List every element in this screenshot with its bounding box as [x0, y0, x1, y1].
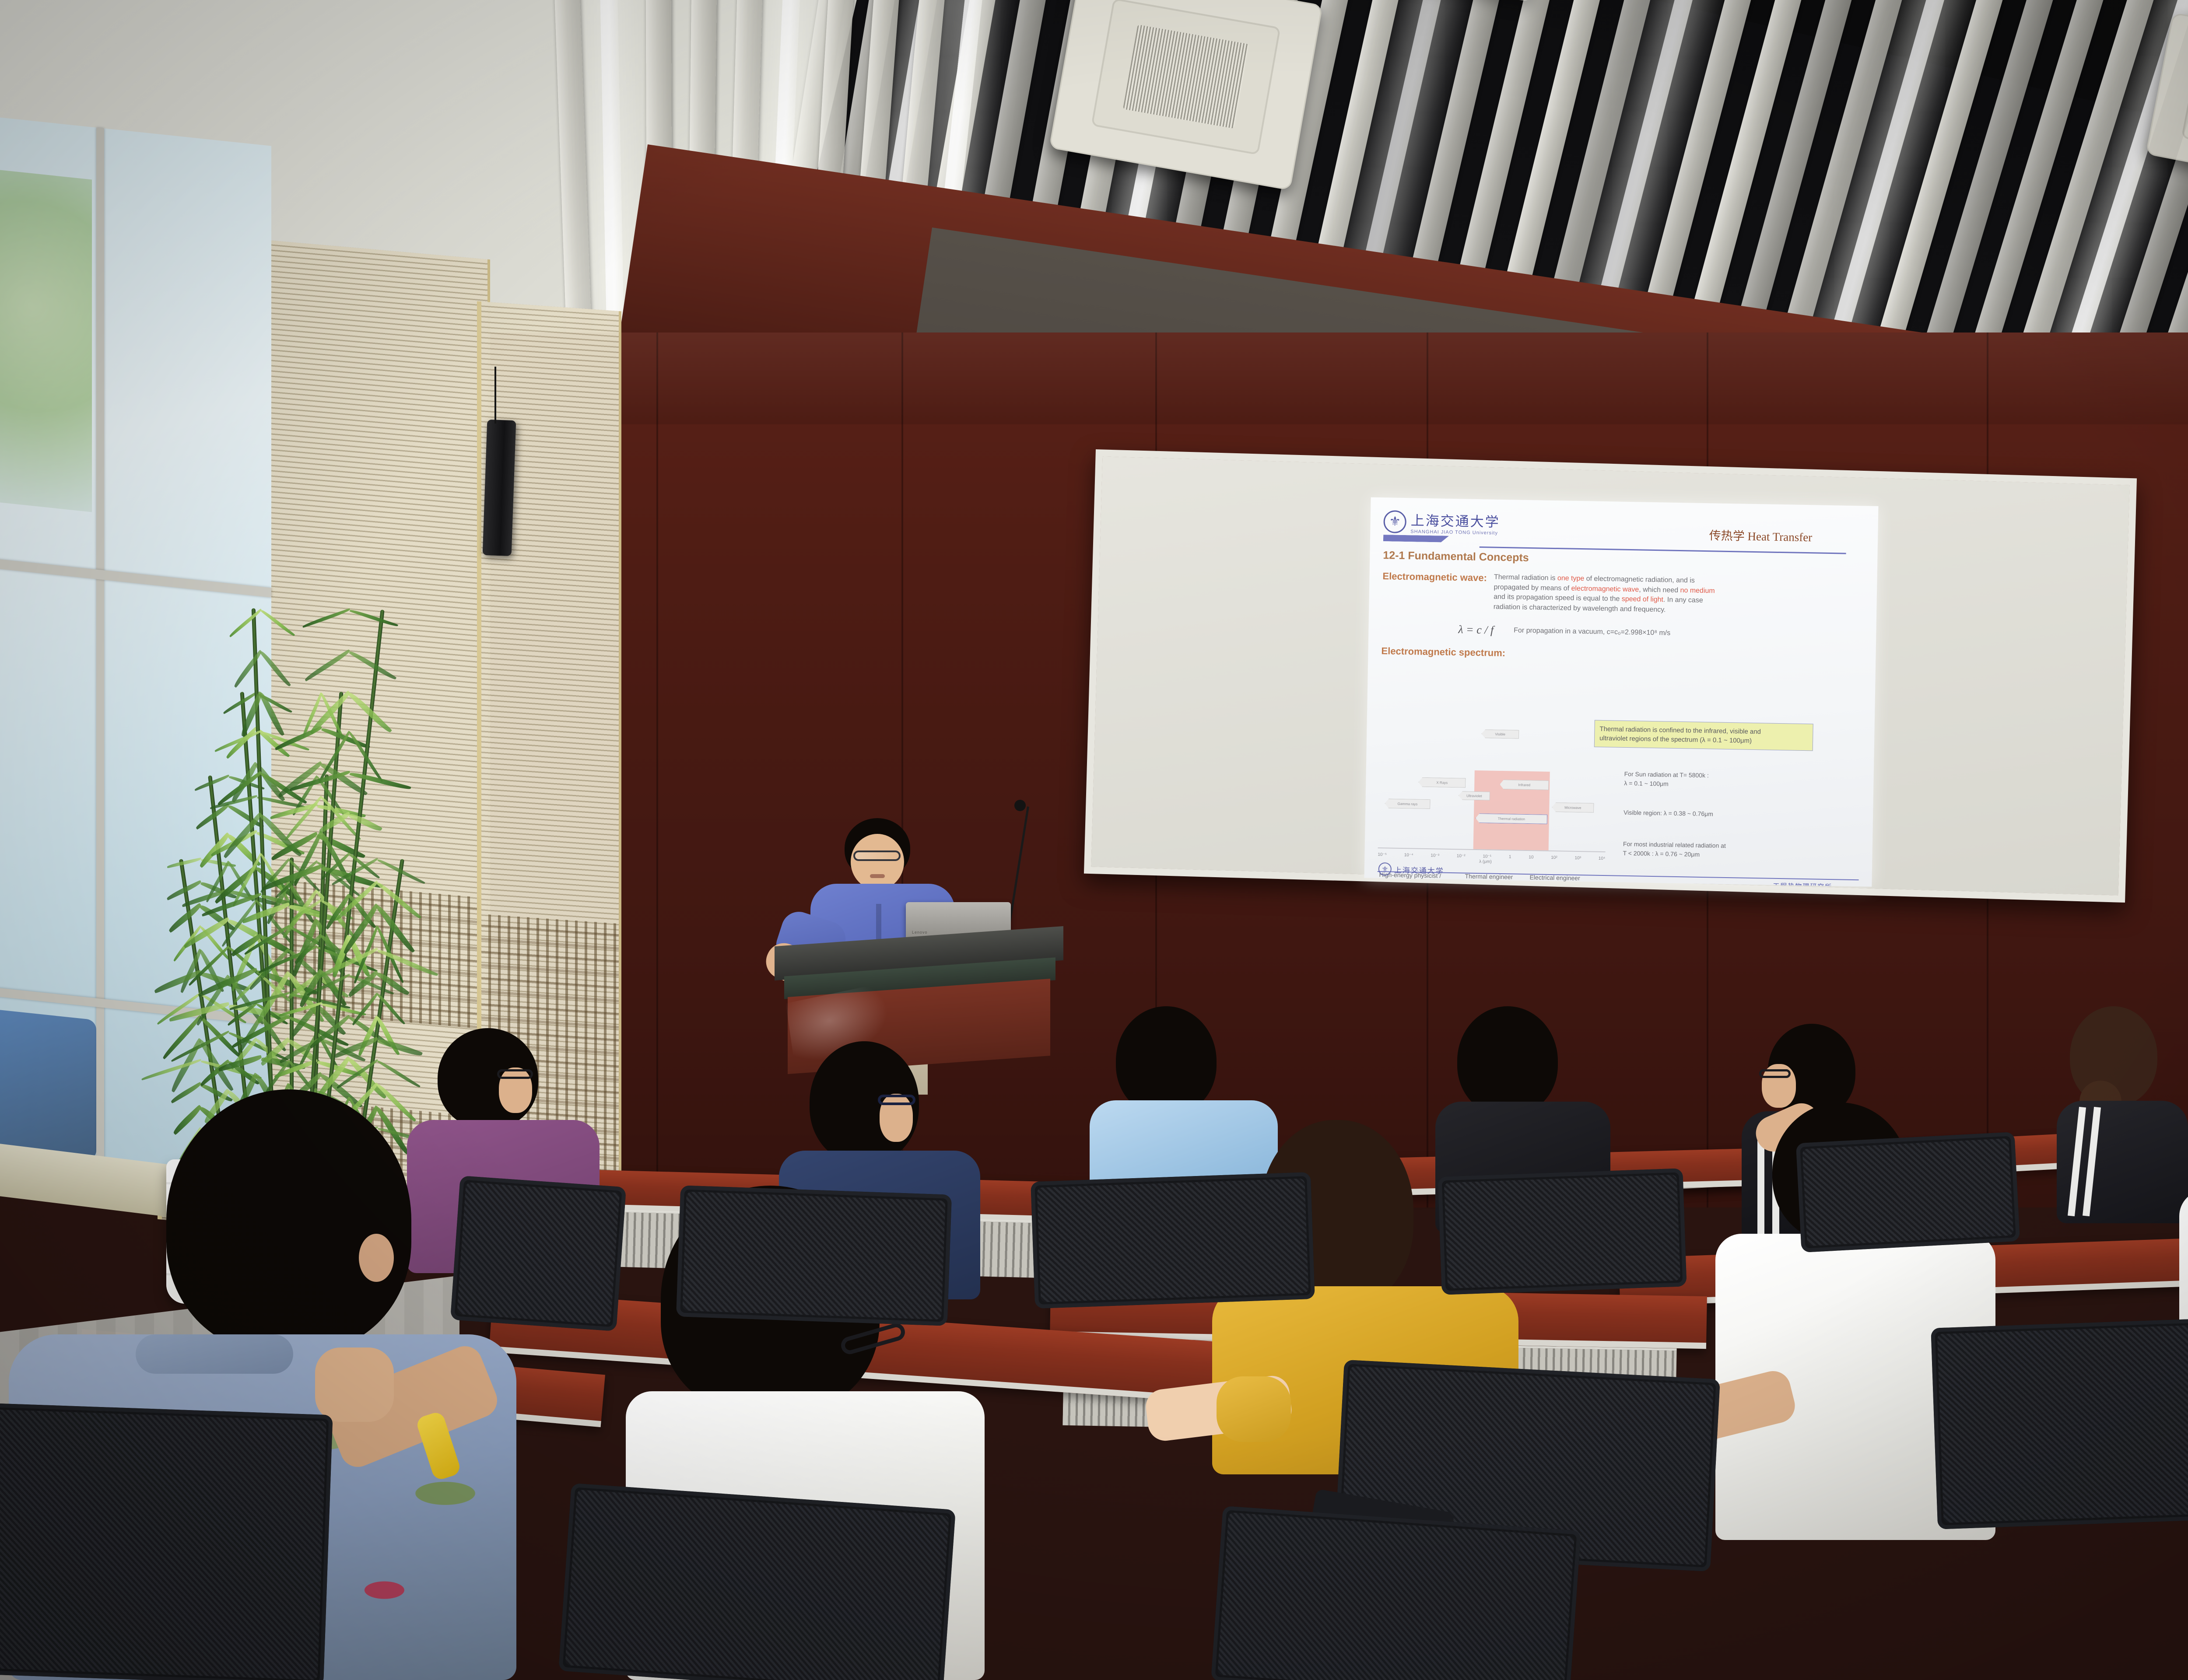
laptop-brand: Lenovo: [912, 930, 928, 934]
slide-footer-logo: ⚜ 上海交通大学: [1378, 862, 1445, 877]
tick: 10⁻²: [1457, 854, 1466, 858]
plant-leaf: [161, 1015, 203, 1060]
fact-sun-radiation: For Sun radiation at T= 5800k : λ = 0.1 …: [1624, 770, 1709, 789]
ear: [359, 1234, 394, 1282]
audience-member-ponytail-striped: [2048, 1006, 2188, 1234]
tick: 10⁻¹: [1483, 854, 1491, 859]
tick: 10⁻³: [1431, 853, 1439, 858]
sjtu-seal-icon: ⚜: [1383, 510, 1406, 533]
plant-leaf: [197, 968, 259, 997]
sleeve-ruffle: [1217, 1376, 1291, 1442]
microphone-head-icon: [1014, 800, 1026, 811]
plant-leaf: [302, 608, 351, 628]
plant-leaf: [232, 650, 263, 688]
spectrum-axis-label: λ (μm): [1479, 859, 1492, 864]
presenter-face: [851, 834, 904, 890]
equation-note: For propagation in a vacuum, c=c₀=2.998×…: [1514, 626, 1670, 638]
tick: 10: [1529, 855, 1533, 860]
lecture-hall-photo: ⚜ 上海交通大学 SHANGHAI JIAO TONG University 传…: [0, 0, 2188, 1680]
hair: [166, 1089, 411, 1352]
plant-leaf: [347, 970, 380, 997]
projected-slide: ⚜ 上海交通大学 SHANGHAI JIAO TONG University 传…: [1364, 497, 1878, 887]
topic-label-em-spectrum: Electromagnetic spectrum:: [1381, 645, 1862, 665]
topic-body-em-wave: Thermal radiation is one type of electro…: [1494, 573, 1715, 616]
plant-leaf: [350, 608, 398, 628]
plant-leaf: [141, 1059, 202, 1081]
em-spectrum-diagram: Visible Gamma rays X Rays Ultraviolet In…: [1378, 742, 1607, 864]
glasses-icon: [497, 1069, 533, 1079]
university-name-cn-footer: 上海交通大学: [1394, 864, 1444, 875]
glasses-icon: [1759, 1069, 1791, 1078]
hand-fist: [315, 1347, 394, 1422]
plant-leaf: [259, 691, 285, 737]
glasses-icon: [878, 1095, 915, 1105]
speaker-cable: [494, 367, 496, 423]
spectrum-band-thermal-radiation: Thermal radiation: [1476, 813, 1547, 824]
logo-ribbon: [1383, 535, 1449, 542]
tick: 10⁴: [1599, 856, 1606, 861]
fact-line: λ = 0.1 ~ 100μm: [1624, 779, 1708, 789]
slide-footer-rule: 工程热物理研究所: [1378, 871, 1859, 880]
hair: [1457, 1006, 1558, 1116]
course-title: 传热学 Heat Transfer: [1709, 526, 1812, 545]
spectrum-band-ultraviolet: Ultraviolet: [1459, 791, 1490, 800]
projection-screen: ⚜ 上海交通大学 SHANGHAI JIAO TONG University 传…: [1084, 449, 2137, 903]
fact-line: T < 2000k : λ = 0.76 ~ 20μm: [1623, 849, 1725, 860]
thermal-radiation-callout: Thermal radiation is confined to the inf…: [1594, 720, 1813, 751]
plant-leaf: [167, 857, 202, 868]
plant-leaf: [153, 969, 202, 993]
spectrum-band-infrared: Infrared: [1500, 780, 1549, 790]
tick: 10⁻⁴: [1404, 853, 1413, 857]
plant-leaf: [228, 609, 263, 637]
spectrum-band-microwave: Microwave: [1552, 802, 1594, 813]
spectrum-band-xrays: X Rays: [1418, 777, 1466, 788]
presenter-mouth: [870, 874, 885, 878]
plant-leaf: [170, 1031, 230, 1062]
hair: [1116, 1006, 1217, 1116]
presenter-glasses-icon: [853, 850, 901, 861]
plant-leaf: [304, 649, 351, 682]
topic-label-em-wave: Electromagnetic wave:: [1382, 570, 1487, 612]
wavelength-equation: λ = c / f: [1458, 623, 1494, 637]
sjtu-seal-icon-small: ⚜: [1378, 862, 1392, 876]
university-name-cn: 上海交通大学: [1410, 509, 1500, 531]
spectrum-band-gamma: Gamma rays: [1385, 798, 1430, 809]
window-outside-greenery: [0, 169, 92, 512]
fact-visible-region: Visible region: λ = 0.38 ~ 0.76μm: [1623, 808, 1713, 819]
tick: 10³: [1574, 856, 1581, 861]
spectrum-band-visible: Visible: [1481, 729, 1519, 738]
fact-industrial-radiation: For most industrial related radiation at…: [1623, 840, 1726, 860]
tick: 10²: [1551, 855, 1557, 860]
plant-leaf: [260, 609, 295, 637]
tick: 10⁻⁵: [1378, 852, 1387, 857]
university-name-en: SHANGHAI JIAO TONG University: [1410, 529, 1500, 536]
plant-leaf: [260, 650, 291, 688]
column-speaker: [483, 420, 516, 556]
collar: [136, 1334, 293, 1374]
tick: 1: [1509, 854, 1511, 859]
